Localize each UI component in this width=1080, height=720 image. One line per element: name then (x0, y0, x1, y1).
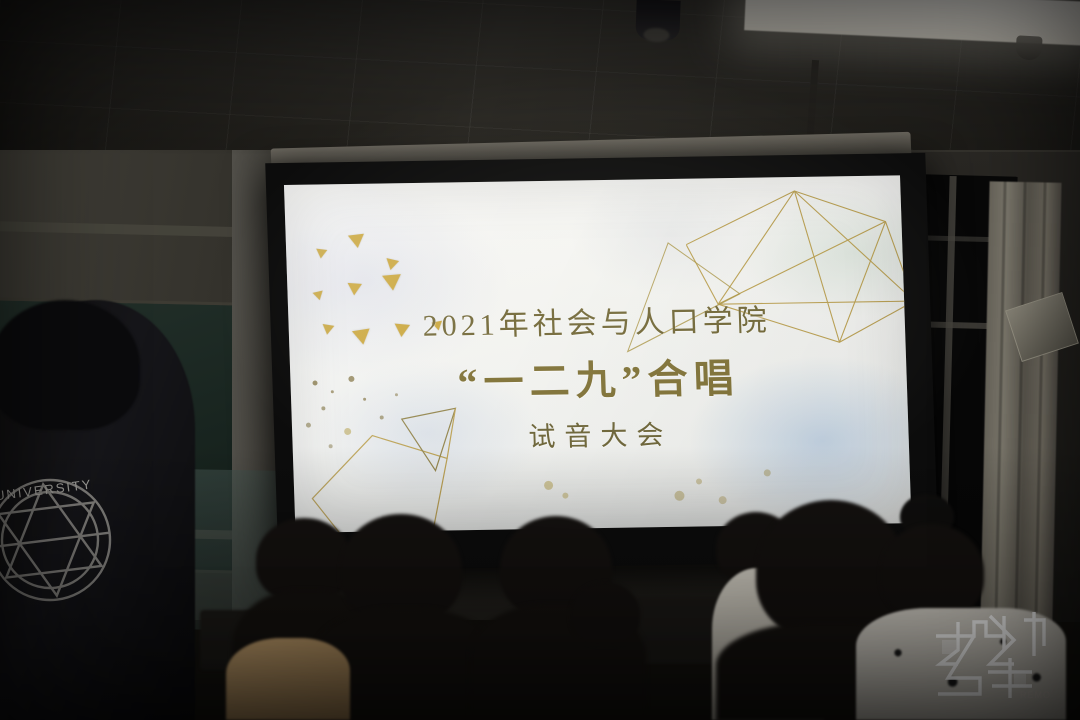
ceiling-projector (635, 0, 680, 41)
curtain-fold (994, 182, 1006, 622)
university-emblem-print: UNIVERSITY (0, 451, 139, 629)
watermark-subtext: REMOTE (1020, 690, 1052, 700)
window-curtain (980, 181, 1061, 622)
slide-line-3: 试音大会 (292, 410, 909, 459)
screen-frame: 2021年社会与人口学院 “一二九”合唱 试音大会 (265, 153, 939, 571)
presentation-slide: 2021年社会与人口学院 “一二九”合唱 试音大会 (284, 175, 912, 532)
curtain-fold (1034, 182, 1046, 622)
slide-line-2: “一二九”合唱 (290, 344, 908, 412)
projection-screen: 2021年社会与人口学院 “一二九”合唱 试音大会 (265, 153, 939, 571)
photo-scene: 2021年社会与人口学院 “一二九”合唱 试音大会 (0, 0, 1080, 720)
curtain-fold (1014, 182, 1026, 622)
slide-line-1: 2021年社会与人口学院 (288, 294, 905, 348)
photographer-logo-watermark: REMOTE (928, 606, 1052, 702)
hoodie-hood (0, 300, 140, 430)
slide-title-block: 2021年社会与人口学院 “一二九”合唱 试音大会 (288, 294, 909, 459)
